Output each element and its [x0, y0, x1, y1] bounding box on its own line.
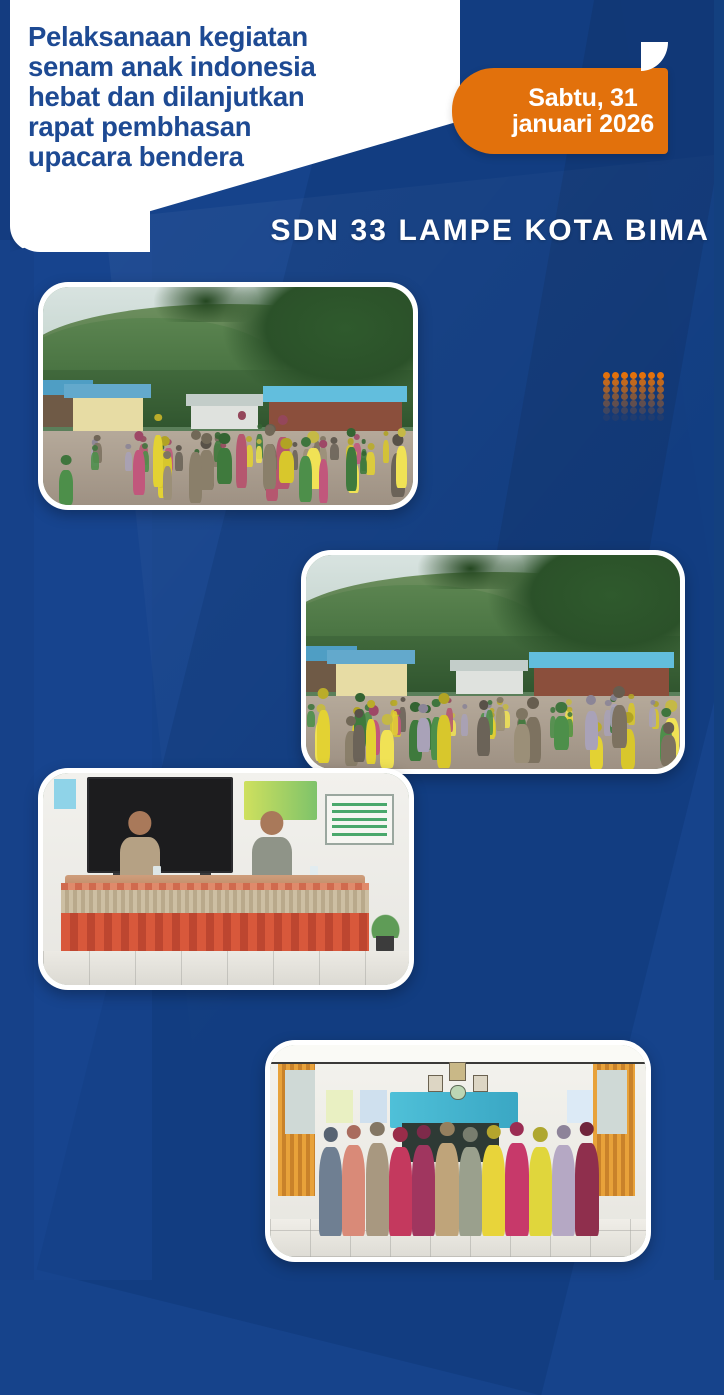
title-line-3: hebat dan dilanjutkan	[28, 82, 408, 112]
photo-2-image	[306, 555, 680, 769]
date-line-2: januari 2026	[512, 111, 654, 137]
page-title: Pelaksanaan kegiatan senam anak indonesi…	[28, 22, 408, 172]
photo-4-image	[270, 1045, 646, 1257]
title-line-4: rapat pembhasan	[28, 112, 408, 142]
photo-card-2	[301, 550, 685, 774]
scene-outdoor-1	[43, 287, 413, 505]
photo-1-image	[43, 287, 413, 505]
background-right-edge	[714, 0, 724, 1280]
scene-outdoor-2	[306, 555, 680, 769]
scene-meeting-room	[43, 773, 409, 985]
title-line-1: Pelaksanaan kegiatan	[28, 22, 408, 52]
date-line-1: Sabtu, 31	[512, 85, 654, 111]
school-name-banner: SDN 33 LAMPE KOTA BIMA	[0, 214, 724, 248]
photo-card-1	[38, 282, 418, 510]
photo-3-image	[43, 773, 409, 985]
photo-card-4	[265, 1040, 651, 1262]
date-badge-text: Sabtu, 31 januari 2026	[512, 85, 668, 137]
title-line-5: upacara bendera	[28, 142, 408, 172]
date-badge: Sabtu, 31 januari 2026	[452, 68, 668, 154]
title-line-2: senam anak indonesia	[28, 52, 408, 82]
orange-dot-grid-icon	[603, 372, 666, 421]
scene-group-photo	[270, 1045, 646, 1257]
photo-card-3	[38, 768, 414, 990]
